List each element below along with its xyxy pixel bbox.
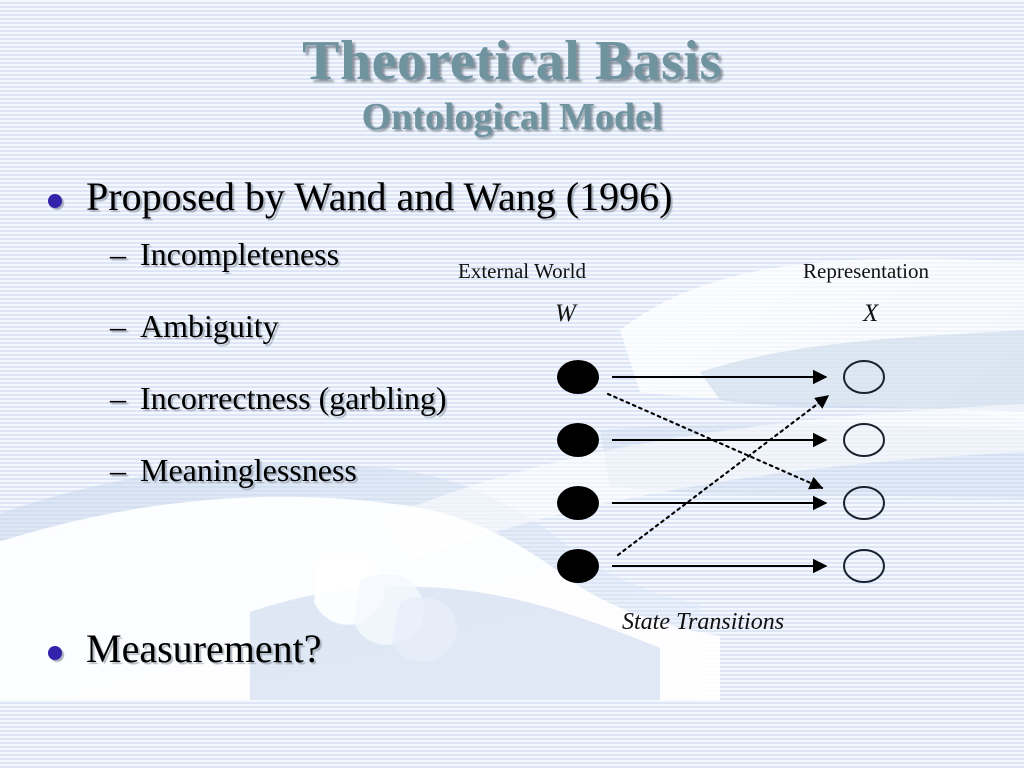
slide-title: Theoretical Basis bbox=[0, 30, 1024, 92]
bullet-dot-icon bbox=[48, 194, 62, 208]
sub-bullet-label: Meaninglessness bbox=[140, 450, 357, 490]
slide-subtitle: Ontological Model bbox=[0, 94, 1024, 140]
en-dash-icon: – bbox=[110, 306, 140, 346]
bullet-item-measurement: Measurement? bbox=[48, 624, 321, 674]
arrow-dotted-4-to-1 bbox=[618, 396, 828, 555]
bullet-main-label: Proposed by Wand and Wang (1996) bbox=[86, 172, 672, 222]
right-node-4 bbox=[844, 550, 884, 582]
right-node-2 bbox=[844, 424, 884, 456]
sub-bullet-label: Ambiguity bbox=[140, 306, 279, 346]
slide-canvas: Theoretical Basis Ontological Model Prop… bbox=[0, 0, 1024, 768]
left-node-2 bbox=[557, 423, 599, 457]
title-block: Theoretical Basis Ontological Model bbox=[0, 30, 1024, 140]
right-node-3 bbox=[844, 487, 884, 519]
left-node-3 bbox=[557, 486, 599, 520]
bullet-item-main: Proposed by Wand and Wang (1996) bbox=[48, 172, 568, 222]
diagram-nodes-and-arrows bbox=[440, 250, 1000, 650]
left-node-1 bbox=[557, 360, 599, 394]
right-node-1 bbox=[844, 361, 884, 393]
en-dash-icon: – bbox=[110, 234, 140, 274]
left-node-4 bbox=[557, 549, 599, 583]
bullet-measurement-label: Measurement? bbox=[86, 624, 321, 674]
en-dash-icon: – bbox=[110, 450, 140, 490]
diagram-caption-state-transitions: State Transitions bbox=[622, 608, 784, 636]
sub-bullet-label: Incorrectness (garbling) bbox=[140, 378, 447, 418]
right-node-group bbox=[844, 361, 884, 582]
sub-bullet-label: Incompleteness bbox=[140, 234, 339, 274]
bullet-dot-icon bbox=[48, 646, 62, 660]
left-node-group bbox=[557, 360, 599, 583]
en-dash-icon: – bbox=[110, 378, 140, 418]
ontological-mapping-diagram: External World Representation W X bbox=[440, 250, 1000, 650]
